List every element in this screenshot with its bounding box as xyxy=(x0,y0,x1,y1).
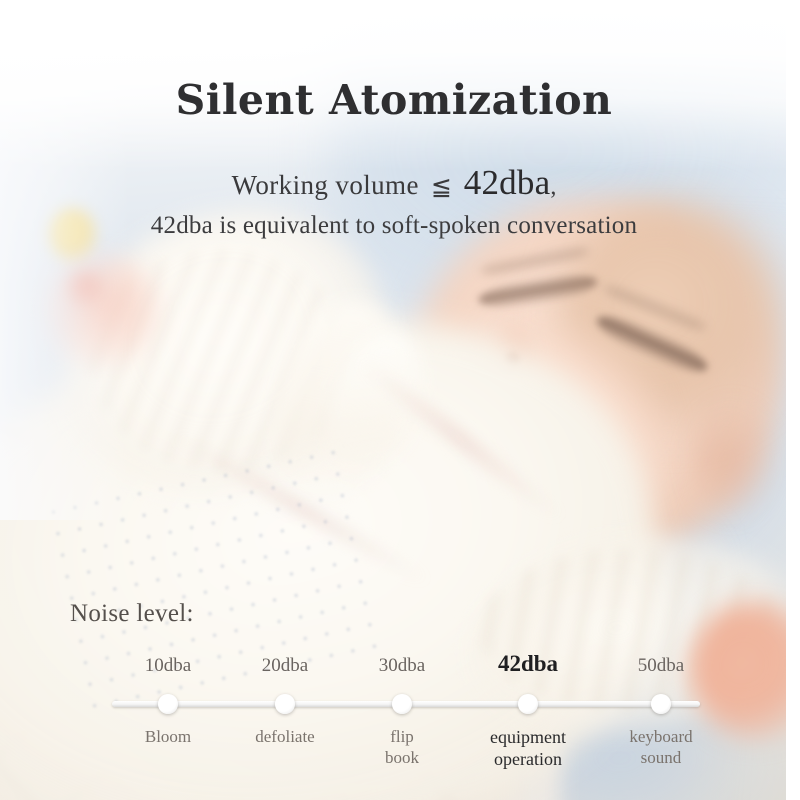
noise-level-label: Noise level: xyxy=(70,600,194,628)
subtitle-comma: , xyxy=(550,174,556,200)
scale-value-10dba: 10dba xyxy=(145,655,191,677)
less-than-or-equal-icon: ≦ xyxy=(419,172,464,201)
scale-value-30dba: 30dba xyxy=(379,655,425,677)
scale-name-42dba: equipment operation xyxy=(490,727,566,771)
subtitle-prefix: Working volume xyxy=(232,170,419,200)
slider-knob-30dba[interactable] xyxy=(392,694,412,714)
scale-value-42dba: 42dba xyxy=(498,651,558,677)
scale-name-10dba: Bloom xyxy=(145,727,191,748)
page-title: Silent Atomization xyxy=(0,76,788,124)
slider-knob-50dba[interactable] xyxy=(651,694,671,714)
subtitle-line-1: Working volume≦42dba, xyxy=(0,163,788,203)
slider-knob-10dba[interactable] xyxy=(158,694,178,714)
scale-value-50dba: 50dba xyxy=(638,655,684,677)
scale-name-50dba: keyboard sound xyxy=(629,727,692,768)
scale-name-20dba: defoliate xyxy=(255,727,314,748)
subtitle-line-2: 42dba is equivalent to soft-spoken conve… xyxy=(0,212,788,240)
right-white-margin xyxy=(786,0,800,800)
slider-knob-42dba[interactable] xyxy=(518,694,538,714)
scale-name-30dba: flip book xyxy=(385,727,419,768)
slider-knob-20dba[interactable] xyxy=(275,694,295,714)
noise-level-scale: 10dba20dba30dba42dba50dba Bloomdefoliate… xyxy=(0,655,788,795)
scale-value-row: 10dba20dba30dba42dba50dba xyxy=(0,655,788,685)
promo-banner: Silent Atomization Working volume≦42dba,… xyxy=(0,0,800,800)
subtitle-value: 42dba xyxy=(464,163,551,202)
scale-value-20dba: 20dba xyxy=(262,655,308,677)
